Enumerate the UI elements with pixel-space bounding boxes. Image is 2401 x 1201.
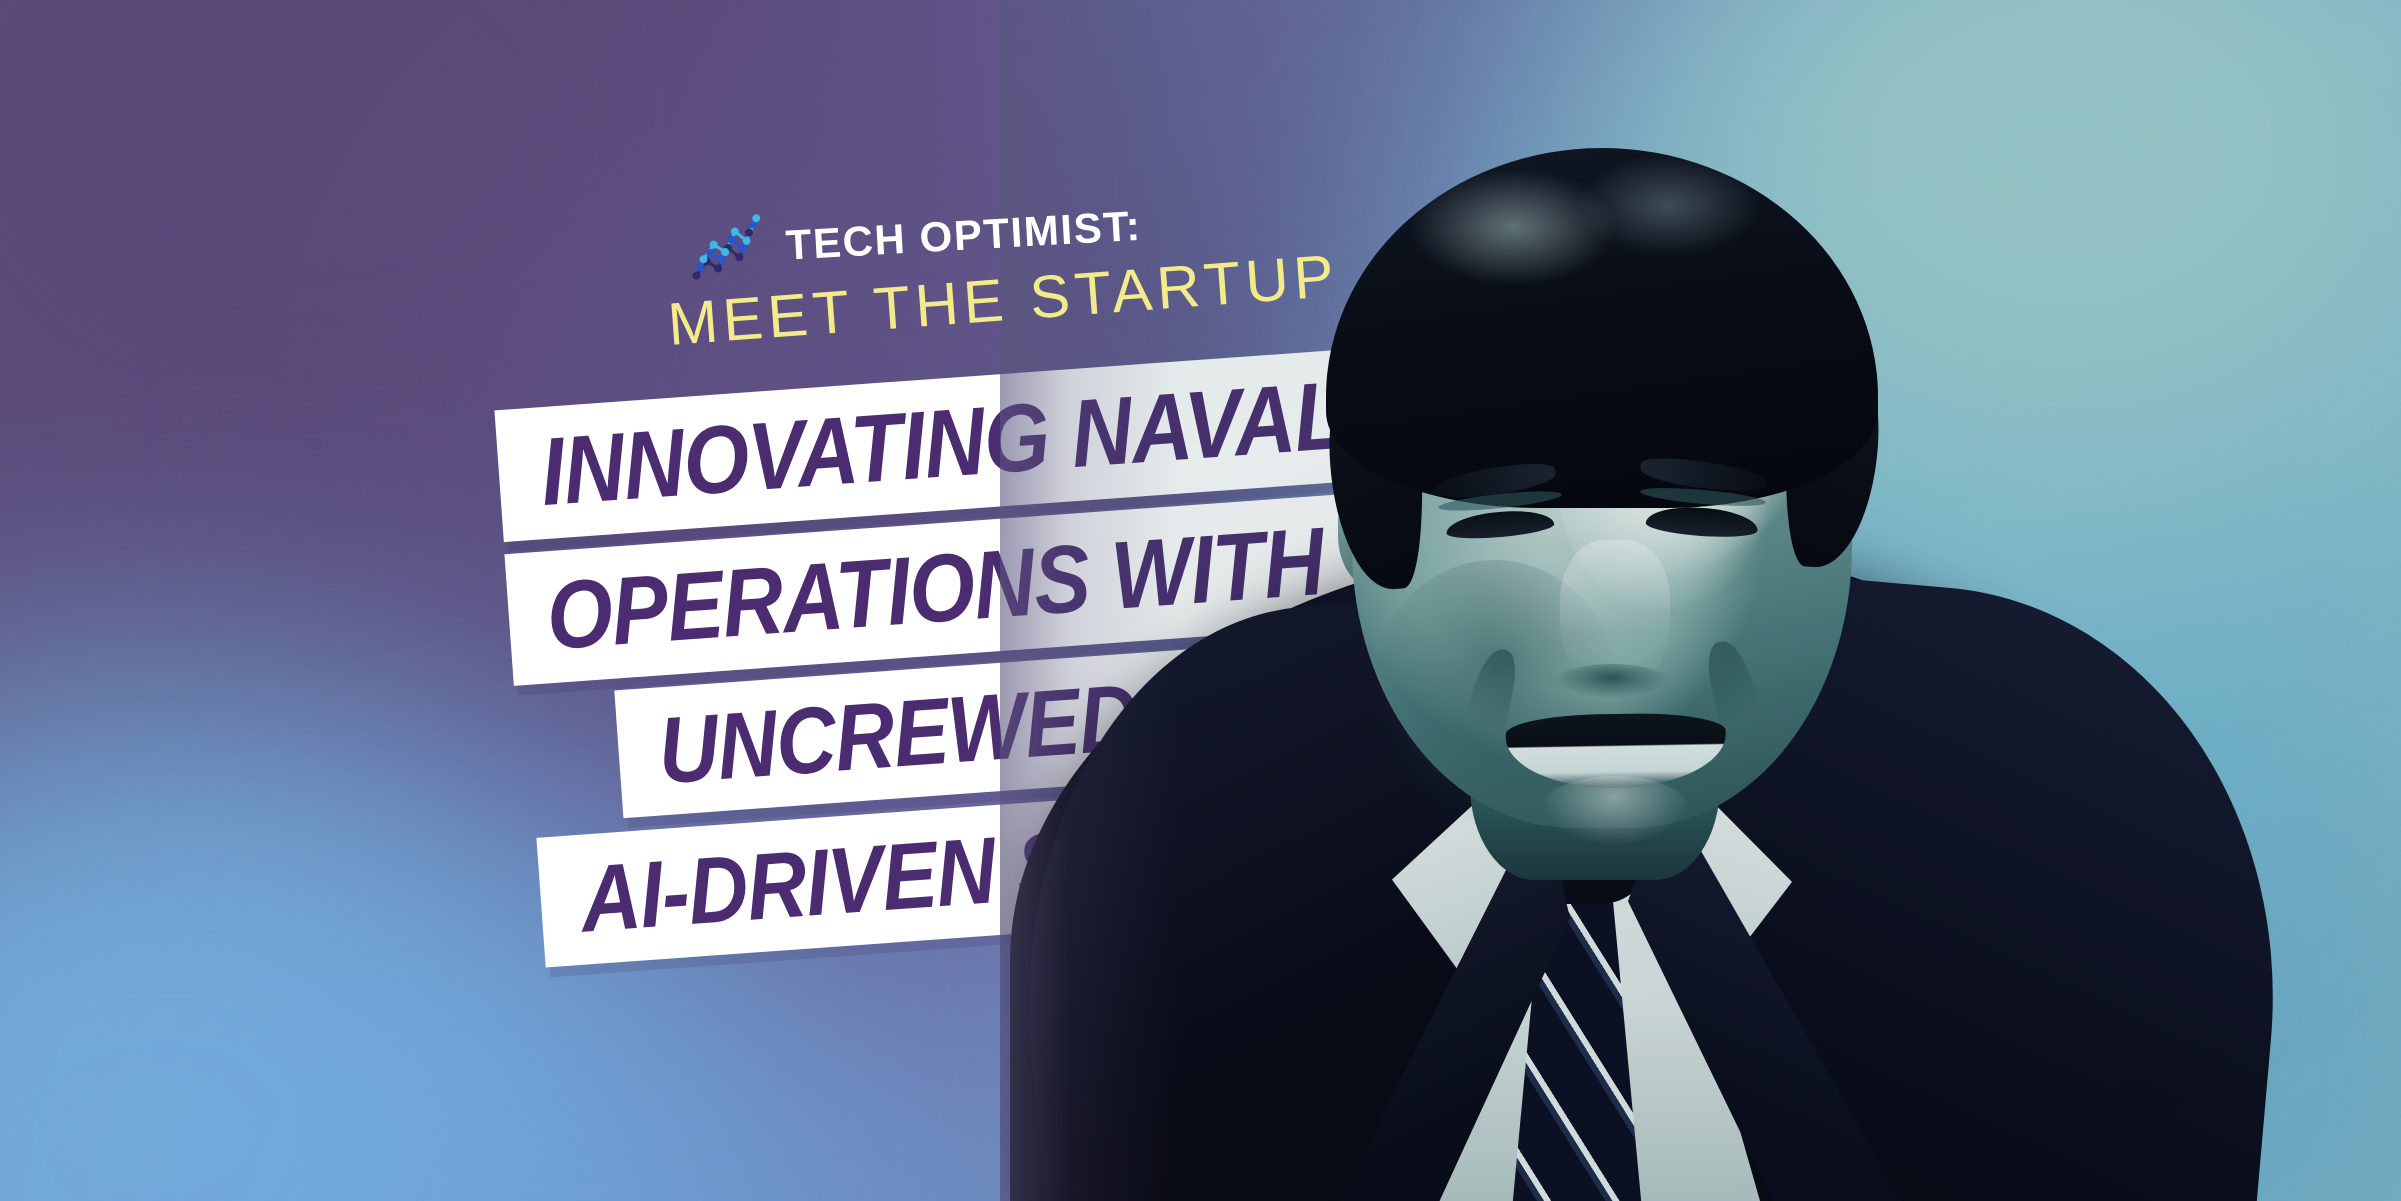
portrait-edge-fade	[1000, 0, 2401, 1201]
promo-banner: TECH OPTIMIST: MEET THE STARTUP INNOVATI…	[0, 0, 2401, 1201]
portrait-photo	[1000, 0, 2401, 1201]
trend-network-icon	[688, 214, 770, 284]
